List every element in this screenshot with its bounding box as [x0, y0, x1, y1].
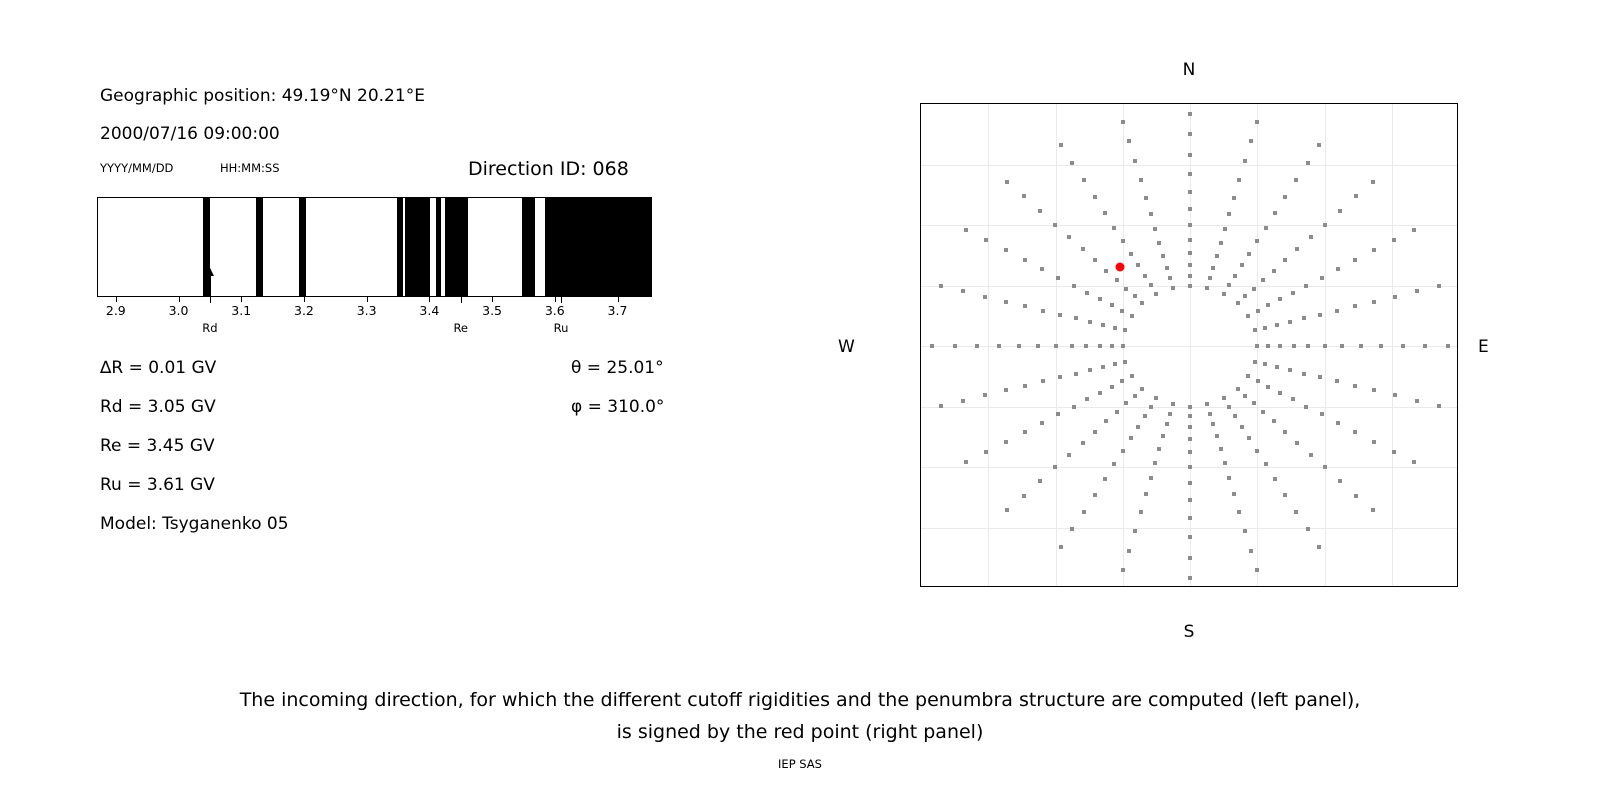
- sky-direction-dot: [1320, 412, 1324, 416]
- sky-direction-dot: [1283, 258, 1287, 262]
- sky-direction-dot: [1101, 323, 1105, 327]
- sky-direction-dot: [1188, 450, 1192, 454]
- sky-direction-dot: [1140, 387, 1144, 391]
- sky-direction-dot: [1121, 568, 1125, 572]
- sky-direction-dot: [1371, 180, 1375, 184]
- sky-direction-dot: [1127, 549, 1131, 553]
- sky-direction-dot: [1263, 362, 1267, 366]
- sky-direction-dot: [1120, 379, 1124, 383]
- sky-direction-dot: [1272, 419, 1276, 423]
- sky-direction-dot: [1393, 295, 1397, 299]
- polar-x-tick: [1257, 586, 1258, 587]
- sky-direction-dot: [1154, 292, 1158, 296]
- sky-direction-dot: [1227, 283, 1231, 287]
- sky-direction-dot: [1294, 178, 1298, 182]
- sky-direction-dot: [1266, 303, 1270, 307]
- sky-direction-dot: [1256, 309, 1260, 313]
- sky-direction-dot: [1067, 235, 1071, 239]
- sky-direction-dot: [1288, 368, 1292, 372]
- sky-direction-dot: [1130, 374, 1134, 378]
- datetime-text: 2000/07/16 09:00:00: [100, 124, 280, 144]
- sky-direction-dot: [1041, 309, 1045, 313]
- gridline-vertical: [988, 104, 989, 586]
- sky-direction-dot: [1353, 304, 1357, 308]
- sky-direction-dot: [1070, 161, 1074, 165]
- rigidity-marker-label-re: Re: [453, 321, 468, 335]
- sky-direction-dot: [1110, 385, 1114, 389]
- sky-direction-dot: [1038, 209, 1042, 213]
- penumbra-bar: [97, 197, 652, 297]
- sky-direction-dot: [983, 393, 987, 397]
- sky-direction-dot: [1295, 247, 1299, 251]
- sky-direction-dot: [1353, 384, 1357, 388]
- sky-direction-dot: [1253, 360, 1257, 364]
- sky-direction-dot: [1059, 143, 1063, 147]
- sky-direction-dot: [939, 404, 943, 408]
- gridline-horizontal: [921, 346, 1457, 347]
- sky-direction-dot: [1171, 402, 1175, 406]
- gridline-horizontal: [921, 165, 1457, 166]
- parameter-right-1: φ = 310.0°: [571, 397, 664, 417]
- sky-direction-dot: [1243, 394, 1247, 398]
- sky-direction-dot: [1133, 394, 1137, 398]
- sky-direction-dot: [1104, 419, 1108, 423]
- sky-direction-dot: [1072, 284, 1076, 288]
- sky-direction-dot: [1088, 320, 1092, 324]
- sky-direction-dot: [1188, 284, 1192, 288]
- sky-direction-dot: [1232, 492, 1236, 496]
- sky-direction-dot: [1309, 453, 1313, 457]
- rigidity-tick-label: 3.6: [545, 303, 565, 318]
- sky-direction-dot: [1188, 437, 1192, 441]
- polar-y-tick: [920, 528, 921, 529]
- sky-direction-dot: [1103, 211, 1107, 215]
- sky-direction-dot: [1023, 258, 1027, 262]
- sky-direction-dot: [1372, 440, 1376, 444]
- sky-direction-dot: [1237, 510, 1241, 514]
- right-panel: N S W E −1.00−0.75−0.50−0.250.000.250.50…: [760, 0, 1600, 660]
- sky-direction-dot: [1423, 344, 1427, 348]
- sky-direction-dot: [964, 228, 968, 232]
- sky-direction-dot: [1338, 479, 1342, 483]
- sky-direction-dot: [1149, 405, 1153, 409]
- sky-direction-dot: [1036, 344, 1040, 348]
- sky-direction-dot: [1040, 421, 1044, 425]
- selected-direction-marker[interactable]: [1115, 262, 1124, 271]
- sky-direction-dot: [1101, 365, 1105, 369]
- sky-direction-dot: [1246, 314, 1250, 318]
- sky-direction-dot: [1005, 508, 1009, 512]
- polar-y-tick: [920, 286, 921, 287]
- sky-direction-dot: [1304, 405, 1308, 409]
- sky-direction-dot: [1127, 139, 1131, 143]
- polar-y-tick: [920, 407, 921, 408]
- sky-direction-dot: [1112, 462, 1116, 466]
- sky-direction-dot: [1208, 412, 1212, 416]
- sky-direction-dot: [1393, 393, 1397, 397]
- sky-direction-dot: [1005, 180, 1009, 184]
- rigidity-marker-label-ru: Ru: [554, 321, 569, 335]
- sky-direction-dot: [1233, 414, 1237, 418]
- sky-direction-dot: [1353, 430, 1357, 434]
- sky-direction-dot: [1323, 223, 1327, 227]
- rigidity-tick-label: 3.5: [482, 303, 502, 318]
- sky-direction-dot: [1371, 508, 1375, 512]
- sky-direction-dot: [1273, 477, 1277, 481]
- sky-direction-dot: [1243, 294, 1247, 298]
- sky-direction-dot: [1113, 362, 1117, 366]
- sky-direction-dot: [1255, 449, 1259, 453]
- sky-direction-dot: [1188, 576, 1192, 580]
- direction-id-text: Direction ID: 068: [468, 158, 629, 180]
- sky-direction-dot: [1306, 344, 1310, 348]
- sky-direction-plot: −1.00−0.75−0.50−0.250.000.250.500.751.00…: [920, 103, 1458, 587]
- rigidity-marker-arrow-re: [461, 269, 462, 303]
- sky-direction-dot: [1188, 153, 1192, 157]
- sky-direction-dot: [1161, 434, 1165, 438]
- sky-direction-dot: [1139, 178, 1143, 182]
- sky-direction-dot: [1168, 412, 1172, 416]
- sky-direction-dot: [1149, 212, 1153, 216]
- sky-direction-dot: [1059, 545, 1063, 549]
- sky-direction-dot: [1124, 287, 1128, 291]
- sky-direction-dot: [1058, 313, 1062, 317]
- sky-direction-dot: [1306, 527, 1310, 531]
- sky-direction-dot: [1304, 284, 1308, 288]
- rigidity-tick-label: 3.2: [294, 303, 314, 318]
- sky-direction-dot: [1149, 283, 1153, 287]
- sky-direction-dot: [1266, 385, 1270, 389]
- sky-direction-dot: [1143, 274, 1147, 278]
- sky-direction-dot: [1023, 304, 1027, 308]
- sky-direction-dot: [1412, 460, 1416, 464]
- sky-direction-dot: [1188, 405, 1192, 409]
- sky-direction-dot: [1054, 344, 1058, 348]
- sky-direction-dot: [1222, 396, 1226, 400]
- sky-direction-dot: [1120, 309, 1124, 313]
- rigidity-tick: [241, 297, 242, 302]
- sky-direction-dot: [1247, 252, 1251, 256]
- sky-direction-dot: [1323, 344, 1327, 348]
- sky-direction-dot: [1133, 529, 1137, 533]
- sky-direction-dot: [1291, 397, 1295, 401]
- sky-direction-dot: [1223, 227, 1227, 231]
- sky-direction-dot: [1188, 556, 1192, 560]
- sky-direction-dot: [1165, 266, 1169, 270]
- sky-direction-dot: [1240, 425, 1244, 429]
- polar-x-tick: [1325, 586, 1326, 587]
- sky-direction-dot: [1353, 258, 1357, 262]
- sky-direction-dot: [1261, 410, 1265, 414]
- sky-direction-dot: [1056, 276, 1060, 280]
- date-format-hint: YYYY/MM/DD: [100, 161, 173, 175]
- compass-label-north: N: [1183, 60, 1196, 80]
- caption-line-1: The incoming direction, for which the di…: [0, 684, 1600, 716]
- sky-direction-dot: [1188, 190, 1192, 194]
- sky-direction-dot: [1121, 120, 1125, 124]
- sky-direction-dot: [1215, 254, 1219, 258]
- sky-direction-dot: [1004, 440, 1008, 444]
- sky-direction-dot: [1023, 384, 1027, 388]
- sky-direction-dot: [1249, 139, 1253, 143]
- sky-direction-dot: [1446, 344, 1450, 348]
- sky-direction-dot: [1255, 120, 1259, 124]
- sky-direction-dot: [1255, 344, 1259, 348]
- sky-direction-dot: [1130, 314, 1134, 318]
- rigidity-tick-label: 3.1: [231, 303, 251, 318]
- sky-direction-dot: [1023, 430, 1027, 434]
- sky-direction-dot: [1372, 248, 1376, 252]
- sky-direction-dot: [1081, 441, 1085, 445]
- sky-direction-dot: [1022, 494, 1026, 498]
- penumbra-forbidden-band: [397, 198, 403, 296]
- sky-direction-dot: [1295, 441, 1299, 445]
- rigidity-tick-label: 2.9: [106, 303, 126, 318]
- sky-direction-dot: [1067, 453, 1071, 457]
- sky-direction-dot: [1211, 422, 1215, 426]
- sky-direction-dot: [1084, 344, 1088, 348]
- sky-direction-dot: [1082, 510, 1086, 514]
- sky-direction-dot: [1335, 379, 1339, 383]
- geographic-position-text: Geographic position: 49.19°N 20.21°E: [100, 86, 425, 106]
- sky-direction-dot: [1070, 527, 1074, 531]
- sky-direction-dot: [1165, 422, 1169, 426]
- sky-direction-dot: [1205, 402, 1209, 406]
- rigidity-tick-label: 3.0: [169, 303, 189, 318]
- sky-direction-dot: [1392, 450, 1396, 454]
- sky-direction-dot: [1004, 388, 1008, 392]
- sky-direction-dot: [1085, 397, 1089, 401]
- sky-direction-dot: [1412, 228, 1416, 232]
- sky-direction-dot: [1222, 292, 1226, 296]
- penumbra-forbidden-band: [256, 198, 263, 296]
- sky-direction-dot: [1153, 227, 1157, 231]
- sky-direction-dot: [1278, 391, 1282, 395]
- sky-direction-dot: [1291, 291, 1295, 295]
- sky-direction-dot: [1053, 223, 1057, 227]
- sky-direction-dot: [1144, 492, 1148, 496]
- sky-direction-dot: [1354, 194, 1358, 198]
- sky-direction-dot: [1266, 344, 1270, 348]
- sky-direction-dot: [1129, 436, 1133, 440]
- parameter-left-4: Model: Tsyganenko 05: [100, 514, 289, 534]
- sky-direction-dot: [1121, 344, 1125, 348]
- sky-direction-dot: [1219, 447, 1223, 451]
- gridline-vertical: [1392, 104, 1393, 586]
- sky-direction-dot: [1264, 462, 1268, 466]
- sky-direction-dot: [1098, 297, 1102, 301]
- sky-direction-dot: [1129, 252, 1133, 256]
- sky-direction-dot: [1256, 379, 1260, 383]
- sky-direction-dot: [1110, 344, 1114, 348]
- sky-direction-dot: [1317, 143, 1321, 147]
- rigidity-tick: [304, 297, 305, 302]
- sky-direction-dot: [1236, 387, 1240, 391]
- sky-direction-dot: [1227, 476, 1231, 480]
- sky-direction-dot: [1113, 326, 1117, 330]
- penumbra-forbidden-band: [405, 198, 429, 296]
- sky-direction-dot: [1103, 477, 1107, 481]
- sky-direction-dot: [1121, 239, 1125, 243]
- sky-direction-dot: [1227, 405, 1231, 409]
- sky-direction-dot: [1188, 238, 1192, 242]
- sky-direction-dot: [1275, 365, 1279, 369]
- parameter-right-0: θ = 25.01°: [571, 358, 664, 378]
- sky-direction-dot: [1240, 263, 1244, 267]
- sky-direction-dot: [1401, 344, 1405, 348]
- polar-y-tick: [920, 467, 921, 468]
- sky-direction-dot: [1093, 430, 1097, 434]
- sky-direction-dot: [1188, 481, 1192, 485]
- sky-direction-dot: [1088, 368, 1092, 372]
- sky-direction-dot: [1294, 510, 1298, 514]
- sky-direction-dot: [1359, 344, 1363, 348]
- sky-direction-dot: [1104, 269, 1108, 273]
- sky-direction-dot: [1188, 172, 1192, 176]
- sky-direction-dot: [1261, 278, 1265, 282]
- sky-direction-dot: [1149, 476, 1153, 480]
- rigidity-marker-arrow-rd: [210, 269, 211, 303]
- compass-label-south: S: [1184, 622, 1195, 642]
- sky-direction-dot: [1017, 344, 1021, 348]
- sky-direction-dot: [1219, 241, 1223, 245]
- sky-direction-dot: [1074, 372, 1078, 376]
- rigidity-tick-label: 3.7: [608, 303, 628, 318]
- rigidity-axis: 2.93.03.13.23.33.43.53.63.7RdReRu: [97, 297, 652, 357]
- sky-direction-dot: [1188, 465, 1192, 469]
- gridline-vertical: [1190, 104, 1191, 586]
- sky-direction-dot: [1161, 254, 1165, 258]
- penumbra-forbidden-band: [445, 198, 468, 296]
- sky-direction-dot: [975, 344, 979, 348]
- sky-direction-dot: [1188, 223, 1192, 227]
- sky-direction-dot: [1278, 297, 1282, 301]
- sky-direction-dot: [1085, 291, 1089, 295]
- polar-y-tick: [920, 346, 921, 347]
- sky-direction-dot: [1323, 465, 1327, 469]
- sky-direction-dot: [1283, 195, 1287, 199]
- sky-direction-dot: [1233, 274, 1237, 278]
- sky-direction-dot: [1249, 549, 1253, 553]
- rigidity-tick: [116, 297, 117, 302]
- polar-x-tick: [1123, 586, 1124, 587]
- sky-direction-dot: [1227, 212, 1231, 216]
- sky-direction-dot: [1093, 493, 1097, 497]
- caption-line-2: is signed by the red point (right panel): [0, 716, 1600, 748]
- sky-direction-dot: [1306, 161, 1310, 165]
- sky-direction-dot: [1243, 529, 1247, 533]
- left-panel: Geographic position: 49.19°N 20.21°E 200…: [0, 0, 760, 660]
- sky-direction-dot: [1112, 226, 1116, 230]
- sky-direction-dot: [939, 284, 943, 288]
- rigidity-tick: [429, 297, 430, 302]
- penumbra-forbidden-band: [522, 198, 535, 296]
- sky-direction-dot: [1133, 159, 1137, 163]
- sky-direction-dot: [1372, 300, 1376, 304]
- sky-direction-dot: [953, 344, 957, 348]
- sky-direction-dot: [1070, 344, 1074, 348]
- sky-direction-dot: [930, 344, 934, 348]
- sky-direction-dot: [1058, 375, 1062, 379]
- sky-direction-dot: [1022, 194, 1026, 198]
- polar-x-tick: [921, 586, 922, 587]
- penumbra-chart: [97, 197, 652, 297]
- sky-direction-dot: [1188, 498, 1192, 502]
- sky-direction-dot: [1255, 568, 1259, 572]
- rigidity-tick: [492, 297, 493, 302]
- polar-y-tick: [920, 104, 921, 105]
- sky-direction-dot: [1098, 344, 1102, 348]
- rigidity-tick: [555, 297, 556, 302]
- sky-direction-dot: [1335, 309, 1339, 313]
- sky-direction-dot: [1211, 266, 1215, 270]
- sky-direction-dot: [1093, 195, 1097, 199]
- sky-direction-dot: [1318, 313, 1322, 317]
- sky-direction-dot: [1188, 263, 1192, 267]
- footer-credit: IEP SAS: [0, 757, 1600, 771]
- sky-direction-dot: [1252, 287, 1256, 291]
- sky-direction-dot: [1237, 178, 1241, 182]
- sky-direction-dot: [1236, 301, 1240, 305]
- sky-direction-dot: [1273, 211, 1277, 215]
- polar-x-tick: [988, 586, 989, 587]
- sky-direction-dot: [1072, 405, 1076, 409]
- sky-direction-dot: [1041, 379, 1045, 383]
- sky-direction-dot: [1302, 316, 1306, 320]
- sky-direction-dot: [1338, 209, 1342, 213]
- sky-direction-dot: [1392, 238, 1396, 242]
- sky-direction-dot: [1318, 375, 1322, 379]
- sky-direction-dot: [1317, 545, 1321, 549]
- rigidity-tick: [179, 297, 180, 302]
- sky-direction-dot: [1154, 396, 1158, 400]
- sky-direction-dot: [1232, 196, 1236, 200]
- sky-direction-dot: [1272, 269, 1276, 273]
- sky-direction-dot: [1252, 401, 1256, 405]
- sky-direction-dot: [997, 344, 1001, 348]
- sky-direction-dot: [1115, 410, 1119, 414]
- sky-direction-dot: [1188, 425, 1192, 429]
- polar-x-tick: [1190, 586, 1191, 587]
- sky-direction-dot: [1372, 388, 1376, 392]
- polar-y-tick: [920, 165, 921, 166]
- sky-direction-dot: [1082, 178, 1086, 182]
- sky-direction-dot: [1153, 461, 1157, 465]
- parameter-left-3: Ru = 3.61 GV: [100, 475, 215, 495]
- sky-direction-dot: [1243, 159, 1247, 163]
- penumbra-forbidden-band: [299, 198, 306, 296]
- sky-direction-dot: [1437, 404, 1441, 408]
- penumbra-forbidden-band: [436, 198, 441, 296]
- parameter-left-2: Re = 3.45 GV: [100, 436, 215, 456]
- sky-direction-dot: [1081, 247, 1085, 251]
- sky-direction-dot: [1157, 447, 1161, 451]
- sky-direction-dot: [1309, 235, 1313, 239]
- sky-direction-dot: [1124, 401, 1128, 405]
- sky-direction-dot: [1171, 286, 1175, 290]
- rigidity-marker-label-rd: Rd: [202, 321, 217, 335]
- rigidity-tick-label: 3.3: [357, 303, 377, 318]
- sky-direction-dot: [964, 460, 968, 464]
- parameter-left-1: Rd = 3.05 GV: [100, 397, 216, 417]
- sky-direction-dot: [1188, 207, 1192, 211]
- sky-direction-dot: [1143, 414, 1147, 418]
- sky-direction-dot: [1283, 430, 1287, 434]
- sky-direction-dot: [1074, 316, 1078, 320]
- sky-direction-dot: [1283, 493, 1287, 497]
- sky-direction-dot: [1004, 300, 1008, 304]
- sky-direction-dot: [1275, 323, 1279, 327]
